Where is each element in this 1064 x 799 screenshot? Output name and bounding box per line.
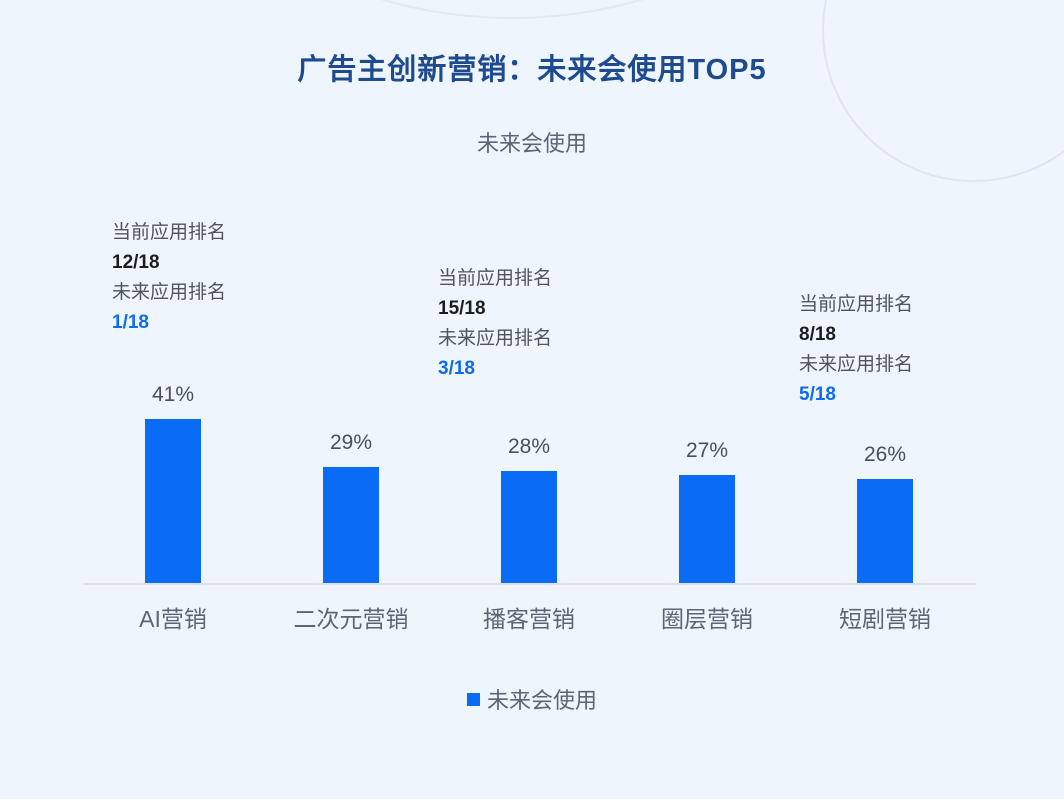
bar-slot: 41% [84,358,262,583]
x-label-acg-marketing: 二次元营销 [262,600,440,634]
x-label-ai-marketing: AI营销 [84,600,262,634]
bar-slot: 28% [440,358,618,583]
rank-current-value: 8/18 [799,320,913,350]
x-axis-baseline [84,583,976,585]
rank-current-value: 12/18 [112,248,226,278]
rank-current-label: 当前应用排名 [799,290,913,320]
legend-swatch-icon [467,693,480,706]
chart-legend: 未来会使用 [0,683,1064,715]
rank-current-label: 当前应用排名 [112,218,226,248]
bar-value-label: 28% [508,435,550,459]
rank-future-value: 1/18 [112,308,226,338]
bar-value-label: 29% [330,431,372,455]
rank-annotation-ai-marketing: 当前应用排名 12/18 未来应用排名 1/18 [112,218,226,338]
x-label-circle-marketing: 圈层营销 [618,600,796,634]
rank-current-label: 当前应用排名 [438,264,552,294]
bar-value-label: 41% [152,383,194,407]
bar-slot: 29% [262,358,440,583]
bar-ai-marketing[interactable] [145,419,201,583]
chart-subtitle: 未来会使用 [0,126,1064,158]
chart-slide: 广告主创新营销：未来会使用TOP5 未来会使用 当前应用排名 12/18 未来应… [0,0,1064,799]
bar-value-label: 27% [686,439,728,463]
bar-circle-marketing[interactable] [679,475,735,583]
rank-future-label: 未来应用排名 [112,278,226,308]
bar-slot: 27% [618,358,796,583]
bar-slot: 26% [796,358,974,583]
bar-value-label: 26% [864,443,906,467]
rank-current-value: 15/18 [438,294,552,324]
x-axis-label-group: AI营销 二次元营销 播客营销 圈层营销 短剧营销 [84,600,976,644]
legend-label[interactable]: 未来会使用 [487,683,597,715]
bar-short-drama-marketing[interactable] [857,479,913,583]
x-label-short-drama-marketing: 短剧营销 [796,600,974,634]
bar-acg-marketing[interactable] [323,467,379,583]
rank-future-label: 未来应用排名 [438,324,552,354]
bar-podcast-marketing[interactable] [501,471,557,583]
page-title: 广告主创新营销：未来会使用TOP5 [0,46,1064,88]
x-label-podcast-marketing: 播客营销 [440,600,618,634]
bar-chart-plot-area: 41% 29% 28% 27% 26% [84,360,976,585]
